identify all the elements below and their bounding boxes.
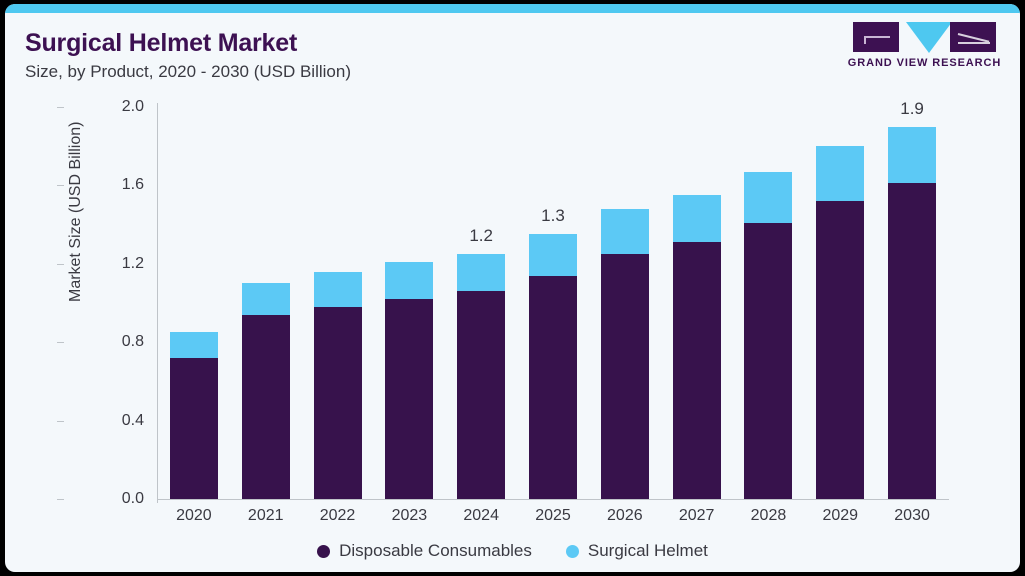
bar-segment-disposable-consumables[interactable] — [457, 291, 505, 499]
y-axis-tick-label: 0.8 — [64, 333, 158, 351]
bar-segment-disposable-consumables[interactable] — [601, 254, 649, 499]
top-accent-bar — [5, 4, 1020, 13]
y-axis-tick-mark — [57, 342, 64, 343]
bar-value-label: 1.3 — [541, 206, 565, 226]
x-axis-line — [157, 499, 949, 500]
logo-wordmark: GRAND VIEW RESEARCH — [847, 57, 1002, 69]
legend-item-disposable-consumables[interactable]: Disposable Consumables — [317, 541, 532, 561]
grand-view-research-logo: GRAND VIEW RESEARCH — [847, 20, 1002, 76]
bar-segment-disposable-consumables[interactable] — [170, 358, 218, 499]
logo-v-icon — [906, 22, 952, 53]
y-axis-tick-mark — [57, 185, 64, 186]
legend-swatch-icon — [566, 545, 579, 558]
legend-label: Disposable Consumables — [339, 541, 532, 561]
page-subtitle: Size, by Product, 2020 - 2030 (USD Billi… — [25, 62, 351, 82]
bar-segment-disposable-consumables[interactable] — [888, 183, 936, 499]
bar-segment-disposable-consumables[interactable] — [314, 307, 362, 499]
bar-group-2030[interactable]: 1.9 — [888, 107, 936, 499]
plot-area: 0.00.40.81.21.62.01.21.31.9 — [158, 107, 948, 499]
chart-card: Surgical Helmet Market Size, by Product,… — [5, 4, 1020, 572]
legend-label: Surgical Helmet — [588, 541, 708, 561]
y-axis-tick-label: 0.4 — [64, 412, 158, 430]
y-axis-tick-mark — [57, 499, 64, 500]
bar-segment-surgical-helmet[interactable] — [385, 262, 433, 299]
bar-segment-disposable-consumables[interactable] — [529, 276, 577, 499]
bar-segment-disposable-consumables[interactable] — [816, 201, 864, 499]
y-axis-tick-mark — [57, 421, 64, 422]
bar-value-label: 1.2 — [469, 226, 493, 246]
y-axis-tick-label: 1.6 — [64, 176, 158, 194]
bar-group-2024[interactable]: 1.2 — [457, 107, 505, 499]
bar-segment-disposable-consumables[interactable] — [673, 242, 721, 499]
bar-segment-surgical-helmet[interactable] — [457, 254, 505, 291]
y-axis-tick-label: 0.0 — [64, 490, 158, 508]
logo-marks — [847, 20, 1002, 54]
bar-segment-surgical-helmet[interactable] — [529, 234, 577, 275]
logo-r-icon — [950, 22, 996, 52]
legend-swatch-icon — [317, 545, 330, 558]
bar-group-2028[interactable] — [744, 107, 792, 499]
bar-segment-surgical-helmet[interactable] — [744, 172, 792, 223]
bar-group-2027[interactable] — [673, 107, 721, 499]
y-axis-title: Market Size (USD Billion) — [67, 122, 85, 302]
y-axis-tick-mark — [57, 107, 64, 108]
bar-segment-disposable-consumables[interactable] — [385, 299, 433, 499]
bar-segment-surgical-helmet[interactable] — [673, 195, 721, 242]
bar-group-2026[interactable] — [601, 107, 649, 499]
bar-segment-surgical-helmet[interactable] — [314, 272, 362, 307]
bar-group-2023[interactable] — [385, 107, 433, 499]
legend-item-surgical-helmet[interactable]: Surgical Helmet — [566, 541, 708, 561]
page-title: Surgical Helmet Market — [25, 29, 297, 58]
bar-segment-disposable-consumables[interactable] — [744, 223, 792, 499]
x-axis-tick-label-2030: 2030 — [867, 507, 957, 525]
bar-group-2029[interactable] — [816, 107, 864, 499]
bar-group-2021[interactable] — [242, 107, 290, 499]
y-axis-tick-mark — [57, 264, 64, 265]
bar-segment-surgical-helmet[interactable] — [601, 209, 649, 254]
y-axis-tick-label: 2.0 — [64, 98, 158, 116]
bar-segment-disposable-consumables[interactable] — [242, 315, 290, 499]
bar-segment-surgical-helmet[interactable] — [816, 146, 864, 201]
bar-group-2025[interactable]: 1.3 — [529, 107, 577, 499]
bar-value-label: 1.9 — [900, 99, 924, 119]
y-axis-tick-label: 1.2 — [64, 255, 158, 273]
bar-segment-surgical-helmet[interactable] — [888, 127, 936, 184]
chart-legend: Disposable ConsumablesSurgical Helmet — [5, 541, 1020, 561]
bar-segment-surgical-helmet[interactable] — [170, 332, 218, 357]
logo-g-icon — [853, 22, 899, 52]
bar-segment-surgical-helmet[interactable] — [242, 283, 290, 314]
bar-group-2020[interactable] — [170, 107, 218, 499]
bar-group-2022[interactable] — [314, 107, 362, 499]
